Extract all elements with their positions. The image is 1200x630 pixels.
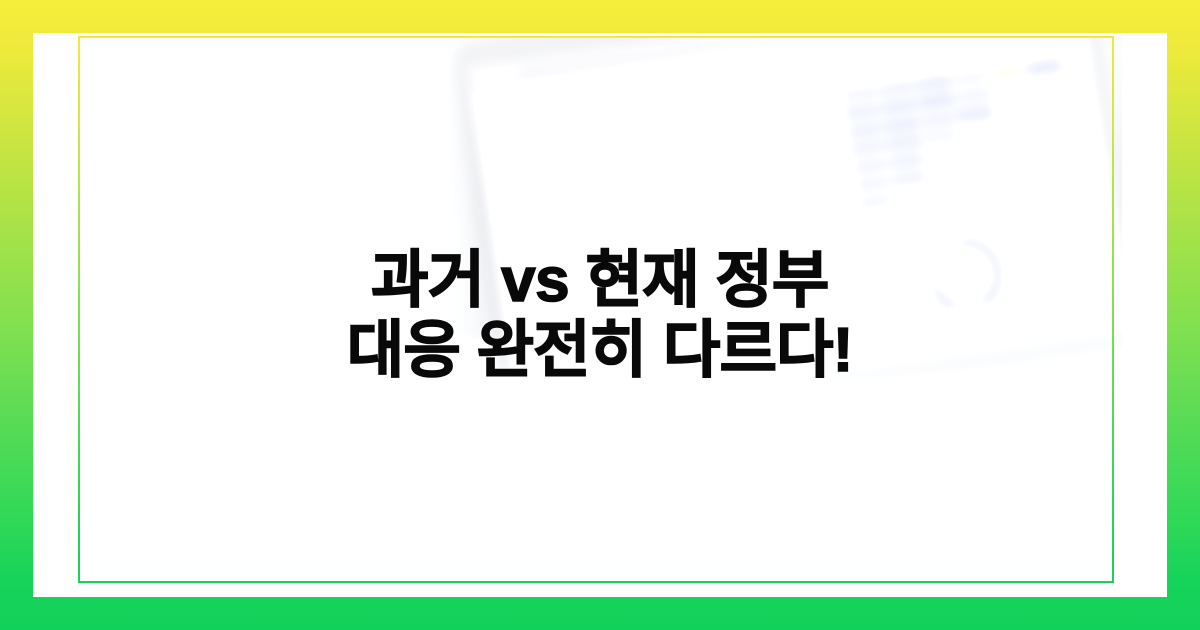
devices-title <box>793 234 939 260</box>
cohort-col-header: 100% <box>839 65 877 83</box>
cohort-col-header: 0.6% <box>985 44 1023 62</box>
cohort-row-label: Aug 09 - Aug 15 <box>781 202 859 219</box>
inner-plate: 100% 3.4% 3% 1.6% 0.6% 1.2% All UsersJul… <box>33 33 1167 597</box>
devices-subtitle <box>795 257 890 275</box>
background-photo: 100% 3.4% 3% 1.6% 0.6% 1.2% All UsersJul… <box>78 36 1122 582</box>
cohort-col-header: 1.2% <box>1022 39 1060 57</box>
cohort-col-header: 3.4% <box>875 60 913 78</box>
overview-panel <box>489 70 758 278</box>
thumbnail-card: 100% 3.4% 3% 1.6% 0.6% 1.2% All UsersJul… <box>0 0 1200 630</box>
cohort-col-header: 1.6% <box>949 50 987 68</box>
sparkline-chart <box>521 154 723 240</box>
photo-blur-layer: 100% 3.4% 3% 1.6% 0.6% 1.2% All UsersJul… <box>78 36 1122 582</box>
cohort-col-header: 3% <box>912 55 950 73</box>
cohort-cell <box>1042 166 1079 184</box>
